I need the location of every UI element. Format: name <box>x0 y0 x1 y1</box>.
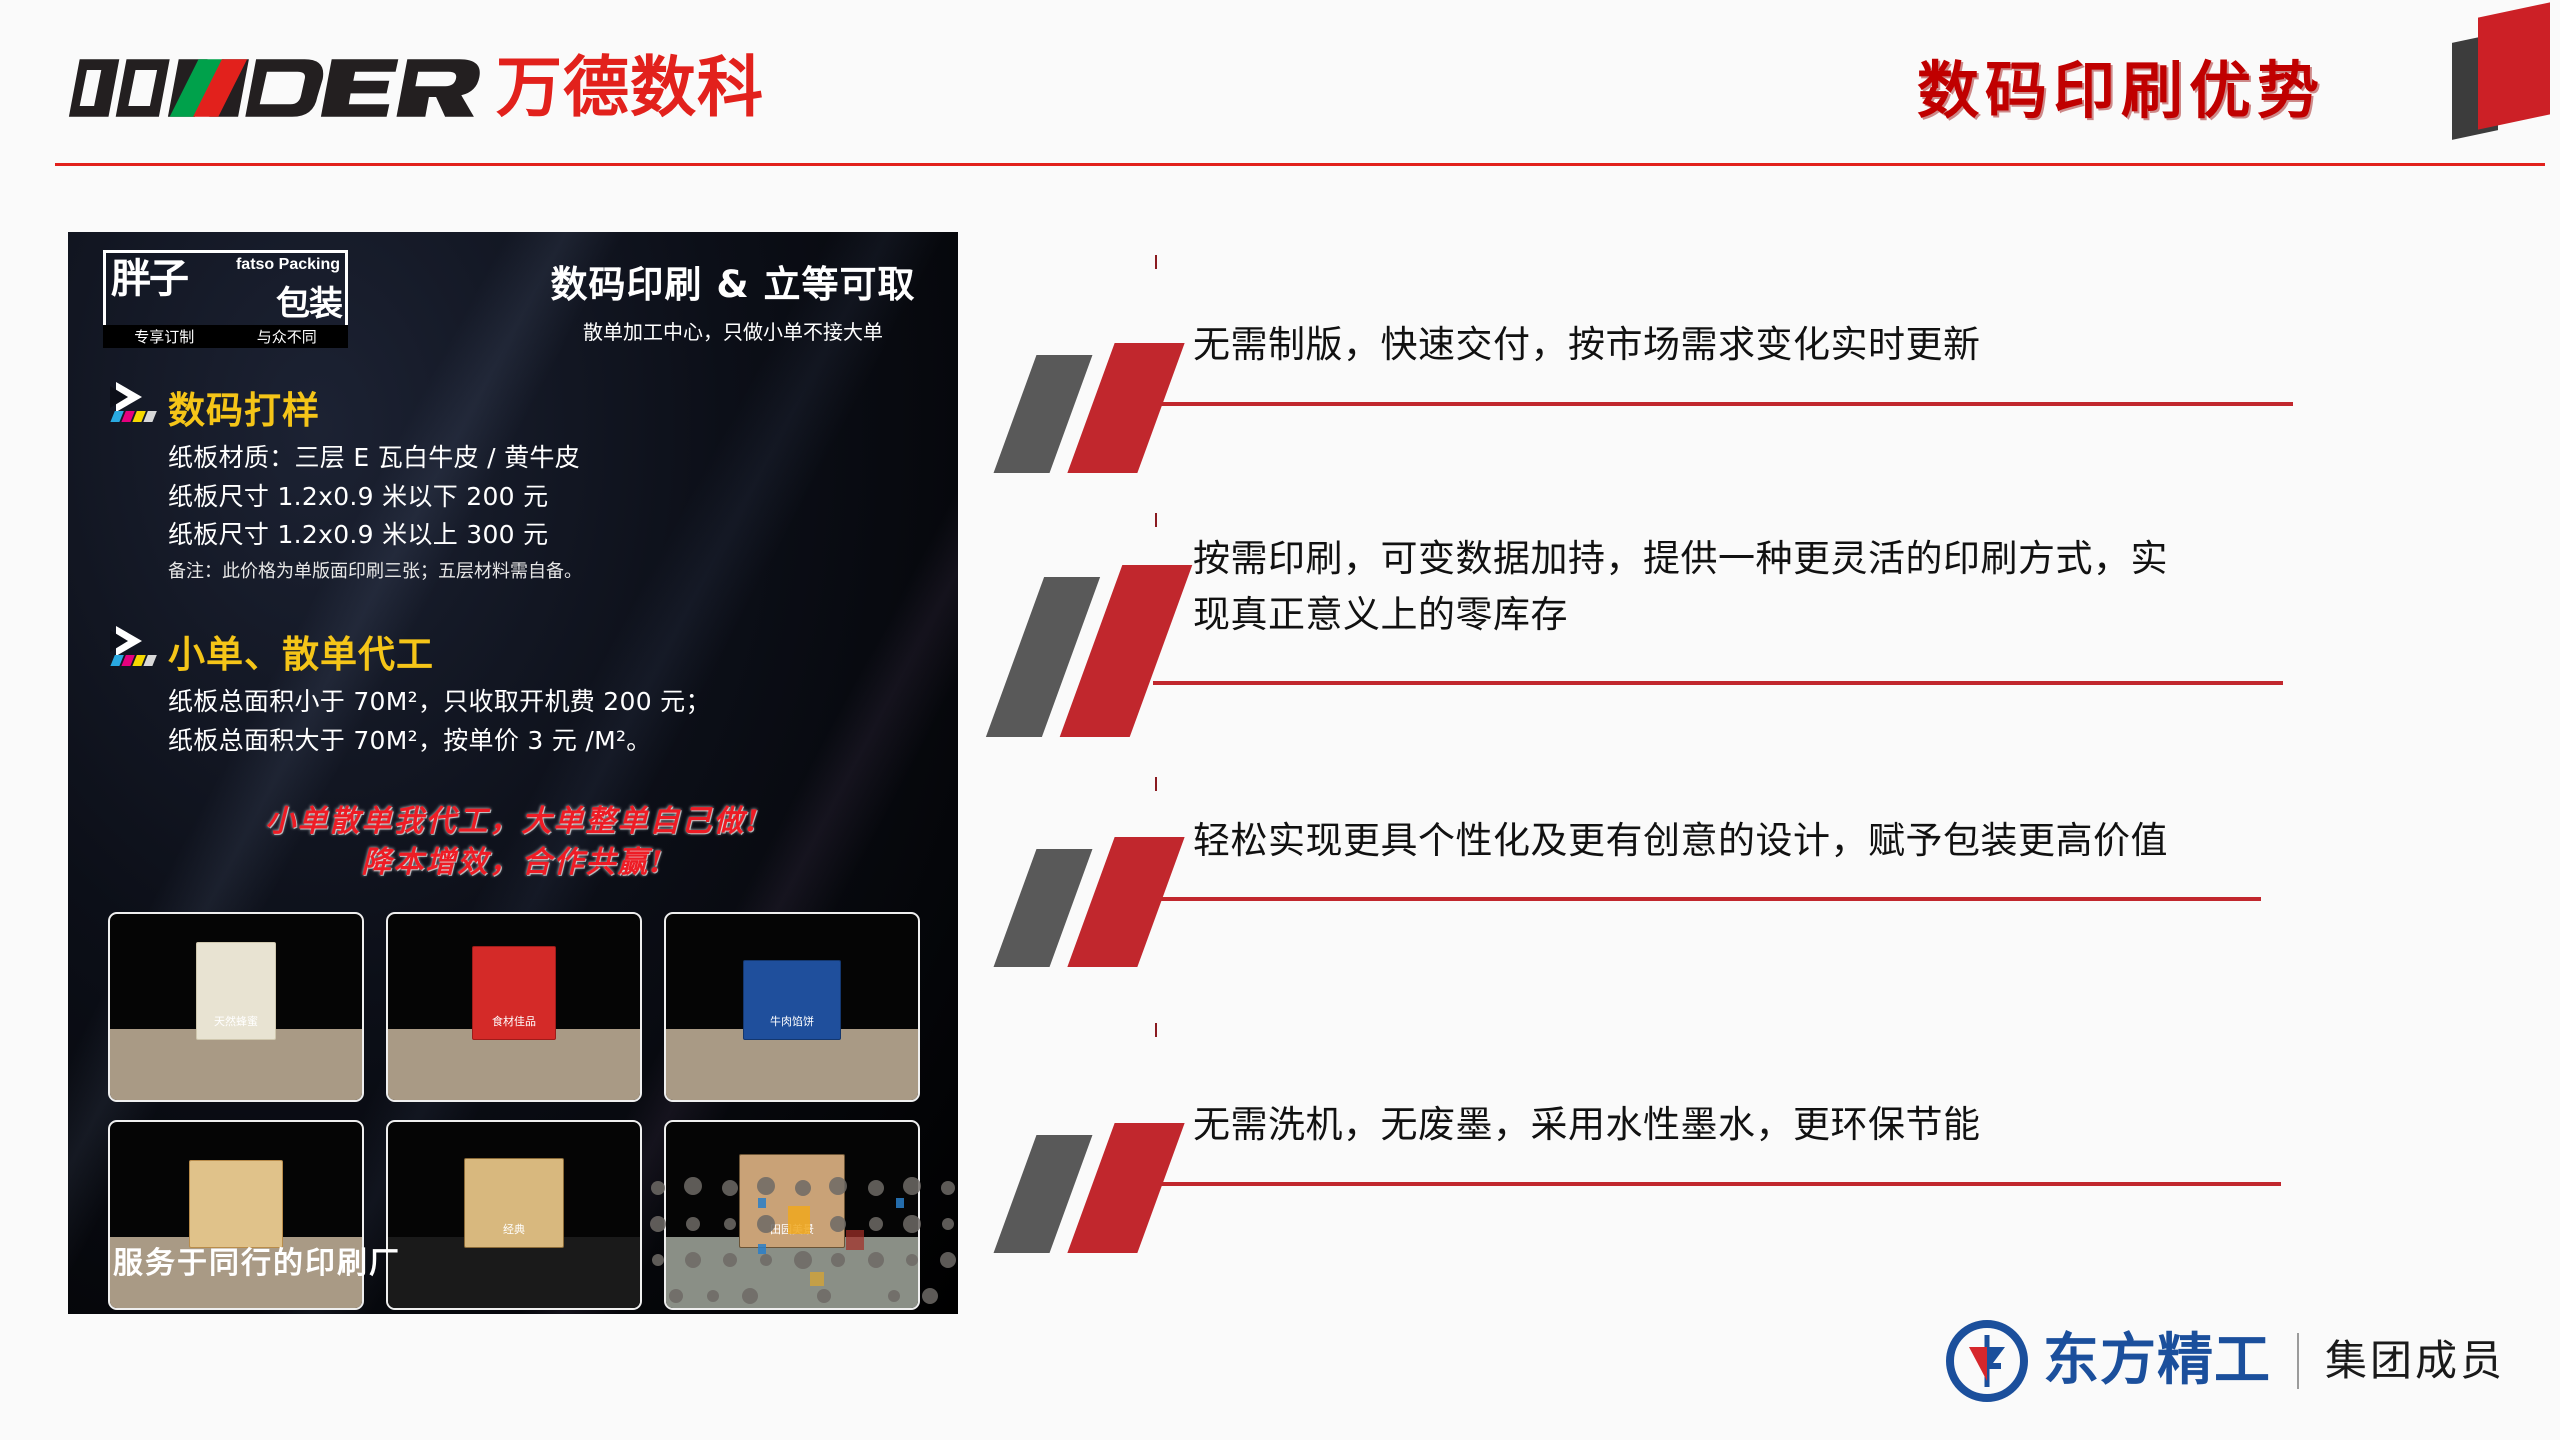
list-item-label: 无需洗机，无废墨，采用水性墨水，更环保节能 <box>1193 1035 2475 1153</box>
slogan-line-2: 降本增效，合作共赢! <box>68 843 958 884</box>
bullet-marker <box>1005 795 1195 1035</box>
list-item-label: 轻松实现更具个性化及更有创意的设计，赋予包装更高价值 <box>1193 795 2475 869</box>
list-item[interactable]: 轻松实现更具个性化及更有创意的设计，赋予包装更高价值 <box>1005 795 2475 1035</box>
footer-member-label: 集团成员 <box>2325 1319 2505 1403</box>
wonder-wordmark <box>60 52 490 124</box>
footer-group-logo: 东方精工 集团成员 <box>1945 1315 2505 1407</box>
list-item-label: 现真正意义上的零库存 <box>1193 587 2475 643</box>
product-photo-label: 天然蜂蜜 <box>214 1013 258 1029</box>
footer-company-name: 东方精工 <box>2043 1319 2271 1403</box>
brand-packaging-word: 包装 <box>276 276 342 325</box>
poster-section-proofing: 数码打样 纸板材质：三层 E 瓦白牛皮 / 黄牛皮 纸板尺寸 1.2x0.9 米… <box>110 380 930 583</box>
bullet-underline <box>1153 681 2283 685</box>
section-line: 纸板材质：三层 E 瓦白牛皮 / 黄牛皮 <box>168 440 930 476</box>
tagline-right: 与众不同 <box>257 326 317 347</box>
section-line: 纸板总面积大于 70M²，按单价 3 元 /M²。 <box>168 723 930 759</box>
list-item[interactable]: 无需洗机，无废墨，采用水性墨水，更环保节能 <box>1005 1035 2475 1275</box>
advantages-list: 无需制版，快速交付，按市场需求变化实时更新 按需印刷，可变数据加持，提供一种更灵… <box>1005 255 2475 1275</box>
bullet-marker <box>1005 255 1195 495</box>
poster-headline: 数码印刷 & 立等可取 <box>528 254 938 308</box>
corner-red-shape <box>2478 2 2550 129</box>
section-title: 数码打样 <box>168 380 930 434</box>
logo-chinese-name: 万德数科 <box>496 52 764 124</box>
bullet-marker <box>1005 495 1195 795</box>
slide-header: 万德数科 数码印刷优势 <box>0 0 2560 190</box>
brand-name-en: fatso Packing <box>236 256 340 274</box>
poster-caption: 服务于同行的印刷厂 <box>113 1238 401 1282</box>
bullet-marker <box>1005 1035 1195 1275</box>
section-title: 小单、散单代工 <box>168 624 930 678</box>
dongfang-emblem-icon <box>1945 1319 2029 1403</box>
chevron-arrow-icon <box>110 382 164 426</box>
poster-subheadline: 散单加工中心，只做小单不接大单 <box>528 316 938 345</box>
product-photo: 天然蜂蜜 <box>108 912 364 1102</box>
poster-slogan: 小单散单我代工，大单整单自己做! 降本增效，合作共赢! <box>68 802 958 883</box>
product-photo: 经典 <box>386 1120 642 1310</box>
poster-headline-block: 数码印刷 & 立等可取 散单加工中心，只做小单不接大单 <box>528 254 938 345</box>
poster-section-oem: 小单、散单代工 纸板总面积小于 70M²，只收取开机费 200 元； 纸板总面积… <box>110 624 930 761</box>
product-photo-label: 食材佳品 <box>492 1013 536 1029</box>
section-line: 纸板尺寸 1.2x0.9 米以上 300 元 <box>168 517 930 553</box>
bullet-underline <box>1153 1182 2281 1186</box>
list-item[interactable]: 无需制版，快速交付，按市场需求变化实时更新 <box>1005 255 2475 495</box>
corner-decoration-icon <box>2430 0 2560 135</box>
brand-taglines: 专享订制 与众不同 <box>103 325 348 348</box>
page-title: 数码印刷优势 <box>1917 40 2325 130</box>
wonder-logo: 万德数科 <box>60 52 764 124</box>
footer-divider <box>2297 1333 2299 1389</box>
header-divider <box>55 163 2545 166</box>
product-photo: 牛肉馅饼 <box>664 912 920 1102</box>
section-line: 纸板尺寸 1.2x0.9 米以下 200 元 <box>168 479 930 515</box>
list-item-label: 无需制版，快速交付，按市场需求变化实时更新 <box>1193 255 2475 373</box>
section-line: 纸板总面积小于 70M²，只收取开机费 200 元； <box>168 684 930 720</box>
halftone-dots-decoration <box>638 1168 958 1314</box>
chevron-arrow-icon <box>110 626 164 670</box>
bullet-tick <box>1155 777 1157 791</box>
section-note: 备注：此价格为单版面印刷三张；五层材料需自备。 <box>168 557 930 583</box>
promo-poster-image: 胖子 fatso Packing 包装 专享订制 与众不同 数码印刷 & 立等可… <box>68 232 958 1314</box>
bullet-underline <box>1153 402 2293 406</box>
brand-name-cn: 胖子 <box>111 259 187 299</box>
slogan-line-1: 小单散单我代工，大单整单自己做! <box>68 802 958 843</box>
product-photo-label: 经典 <box>503 1221 525 1237</box>
bullet-underline <box>1153 897 2261 901</box>
tagline-left: 专享订制 <box>134 326 194 347</box>
product-photo: 食材佳品 <box>386 912 642 1102</box>
list-item[interactable]: 按需印刷，可变数据加持，提供一种更灵活的印刷方式，实 现真正意义上的零库存 <box>1005 495 2475 795</box>
poster-header: 胖子 fatso Packing 包装 专享订制 与众不同 数码印刷 & 立等可… <box>68 232 958 350</box>
fatso-brand-logo: 胖子 fatso Packing 包装 <box>103 250 348 334</box>
product-photo-label: 牛肉馅饼 <box>770 1013 814 1029</box>
list-item-label: 按需印刷，可变数据加持，提供一种更灵活的印刷方式，实 <box>1193 495 2475 587</box>
